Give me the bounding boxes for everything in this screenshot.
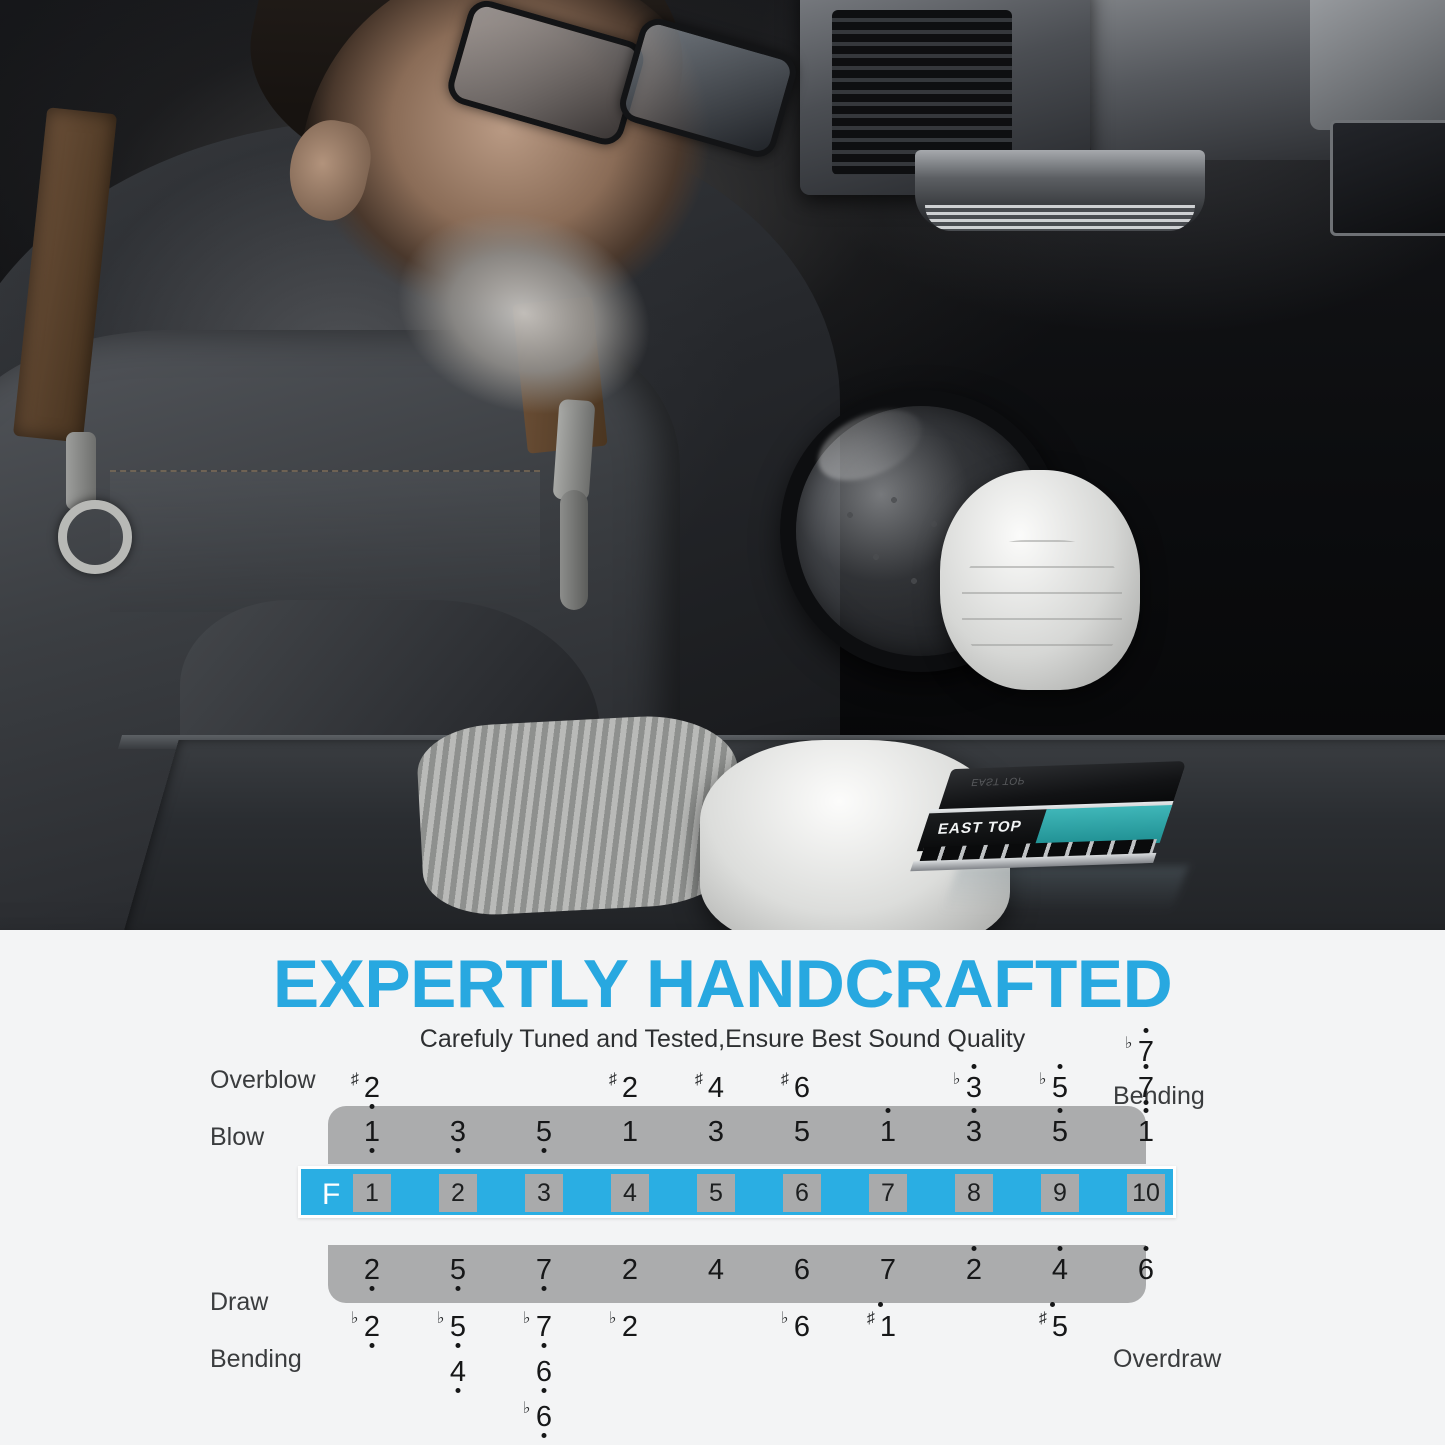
note-cell: 5♭ <box>427 1313 489 1342</box>
octave-dot-above <box>885 1108 890 1113</box>
note-glyph: 5 <box>450 1256 466 1285</box>
note-cell: 2 <box>943 1256 1005 1285</box>
note-glyph: 7 <box>1138 1074 1154 1103</box>
note-cell: 1 <box>1115 1118 1177 1147</box>
accidental-icon: ♯ <box>609 1072 617 1088</box>
octave-dot-above-second <box>1143 1100 1148 1105</box>
accidental-icon: ♭ <box>351 1311 359 1327</box>
subheadline: Carefuly Tuned and Tested,Ensure Best So… <box>0 1025 1445 1054</box>
accidental-icon: ♭ <box>781 1311 789 1327</box>
note-cell: 6 <box>513 1358 575 1387</box>
note-glyph: 3 <box>450 1118 466 1147</box>
note-cell: 3 <box>943 1118 1005 1147</box>
accidental-icon: ♯ <box>695 1072 703 1088</box>
octave-dot-above <box>1057 1246 1062 1251</box>
note-cell: 4 <box>427 1358 489 1387</box>
hole-number-chip[interactable]: 4 <box>611 1174 649 1212</box>
note-glyph: 1 <box>364 1118 380 1147</box>
octave-dot-below <box>541 1148 546 1153</box>
apron-strap-clip-left <box>66 432 96 510</box>
note-glyph: 6♯ <box>794 1074 810 1103</box>
note-cell: 3♭ <box>943 1074 1005 1103</box>
harmonica-etched-brand: EAST TOP <box>970 774 1026 787</box>
accidental-icon: ♭ <box>953 1072 961 1088</box>
octave-dot-above <box>878 1302 883 1307</box>
note-glyph: 7 <box>536 1256 552 1285</box>
note-cell: 4♯ <box>685 1074 747 1103</box>
note-cell: 2♭ <box>599 1313 661 1342</box>
note-glyph: 2 <box>966 1256 982 1285</box>
note-glyph: 3 <box>708 1118 724 1147</box>
hole-number-chip[interactable]: 7 <box>869 1174 907 1212</box>
octave-dot-above <box>1143 1028 1148 1033</box>
octave-dot-below <box>455 1286 460 1291</box>
note-glyph: 1 <box>880 1118 896 1147</box>
page-root: EAST TOP EAST TOP EXPERTLY HANDCRAFTED C… <box>0 0 1445 1445</box>
note-cell: 1 <box>857 1118 919 1147</box>
note-cell: 1 <box>599 1118 661 1147</box>
note-glyph: 4 <box>450 1358 466 1387</box>
hero-photo: EAST TOP EAST TOP <box>0 0 1445 930</box>
note-glyph: 6♭ <box>794 1313 810 1342</box>
info-panel: EXPERTLY HANDCRAFTED Carefuly Tuned and … <box>0 930 1445 1445</box>
note-cell: 7 <box>857 1256 919 1285</box>
hole-number-chip[interactable]: 8 <box>955 1174 993 1212</box>
accidental-icon: ♯ <box>781 1072 789 1088</box>
note-cell: 7 <box>1115 1074 1177 1103</box>
octave-dot-above <box>1143 1246 1148 1251</box>
harmonica-product: EAST TOP EAST TOP <box>909 761 1195 875</box>
note-cell: 1 <box>341 1118 403 1147</box>
note-cell: 4 <box>1029 1256 1091 1285</box>
note-glyph: 6♭ <box>536 1403 552 1432</box>
note-glyph: 2 <box>364 1256 380 1285</box>
label-overdraw: Overdraw <box>1113 1345 1221 1374</box>
harmonica-reflection <box>942 866 1189 912</box>
note-cell: 7♭ <box>513 1313 575 1342</box>
note-glyph: 2 <box>622 1256 638 1285</box>
octave-dot-above <box>1057 1064 1062 1069</box>
apron-strap-clip-right-lower <box>560 490 588 610</box>
hole-number-chip[interactable]: 9 <box>1041 1174 1079 1212</box>
note-cell: 7 <box>513 1256 575 1285</box>
octave-dot-below <box>369 1286 374 1291</box>
octave-dot-below <box>541 1343 546 1348</box>
accidental-icon: ♯ <box>351 1072 359 1088</box>
accidental-icon: ♭ <box>523 1311 531 1327</box>
headline: EXPERTLY HANDCRAFTED <box>0 950 1445 1018</box>
hole-number-chip[interactable]: 3 <box>525 1174 563 1212</box>
note-cell: 3 <box>685 1118 747 1147</box>
note-cell: 2 <box>599 1256 661 1285</box>
note-cell: 5 <box>771 1118 833 1147</box>
note-cell: 4 <box>685 1256 747 1285</box>
accidental-icon: ♯ <box>867 1311 875 1327</box>
glove-cuff <box>415 712 745 918</box>
note-cell: 3 <box>427 1118 489 1147</box>
hole-number-chip[interactable]: 5 <box>697 1174 735 1212</box>
note-glyph: 2♭ <box>622 1313 638 1342</box>
octave-dot-below <box>455 1343 460 1348</box>
note-cell: 2♯ <box>599 1074 661 1103</box>
octave-dot-below <box>369 1148 374 1153</box>
note-cell: 2 <box>341 1256 403 1285</box>
note-glyph: 3♭ <box>966 1074 982 1103</box>
octave-dot-above <box>1057 1108 1062 1113</box>
hole-number-chip[interactable]: 1 <box>353 1174 391 1212</box>
harmonica-brand-label: EAST TOP <box>936 818 1024 838</box>
microscope-arm-upper-icon <box>1310 0 1445 130</box>
octave-dot-below <box>541 1388 546 1393</box>
octave-dot-below <box>541 1433 546 1438</box>
octave-dot-above <box>971 1246 976 1251</box>
note-glyph: 4 <box>708 1256 724 1285</box>
hole-number-chip[interactable]: 10 <box>1127 1174 1165 1212</box>
note-glyph: 7♭ <box>536 1313 552 1342</box>
note-cell: 7♭ <box>1115 1038 1177 1067</box>
note-glyph: 6 <box>536 1358 552 1387</box>
octave-dot-above <box>971 1108 976 1113</box>
note-glyph: 5 <box>1052 1118 1068 1147</box>
octave-dot-below <box>541 1286 546 1291</box>
microscope-lens-rings-icon <box>925 205 1195 231</box>
hole-number-chip[interactable]: 6 <box>783 1174 821 1212</box>
note-glyph: 7 <box>880 1256 896 1285</box>
note-glyph: 4♯ <box>708 1074 724 1103</box>
note-cell: 5 <box>427 1256 489 1285</box>
apron-ring-icon <box>58 500 132 574</box>
microscope-panel-icon <box>1330 120 1445 236</box>
note-glyph: 1♯ <box>880 1313 896 1342</box>
note-cell: 5♭ <box>1029 1074 1091 1103</box>
octave-dot-above <box>1143 1108 1148 1113</box>
note-glyph: 5 <box>536 1118 552 1147</box>
note-glyph: 3 <box>966 1118 982 1147</box>
accidental-icon: ♭ <box>1039 1072 1047 1088</box>
note-glyph: 1 <box>1138 1118 1154 1147</box>
label-bending-left: Bending <box>210 1345 302 1374</box>
note-cell: 6♯ <box>771 1074 833 1103</box>
note-cell: 5 <box>1029 1118 1091 1147</box>
hole-number-chip[interactable]: 2 <box>439 1174 477 1212</box>
accidental-icon: ♭ <box>609 1311 617 1327</box>
note-glyph: 1 <box>622 1118 638 1147</box>
note-glyph: 5♯ <box>1052 1313 1068 1342</box>
note-glyph: 5♭ <box>450 1313 466 1342</box>
note-cell: 6 <box>1115 1256 1177 1285</box>
note-cell: 6♭ <box>513 1403 575 1432</box>
note-cell: 5 <box>513 1118 575 1147</box>
note-cell: 2♭ <box>341 1313 403 1342</box>
octave-dot-below <box>455 1388 460 1393</box>
note-cell: 2♯ <box>341 1074 403 1103</box>
key-letter: F <box>322 1178 340 1212</box>
accidental-icon: ♭ <box>1125 1036 1133 1052</box>
note-glyph: 6 <box>1138 1256 1154 1285</box>
octave-dot-above <box>971 1064 976 1069</box>
accidental-icon: ♭ <box>523 1401 531 1417</box>
note-glyph: 5 <box>794 1118 810 1147</box>
apron-pocket <box>110 470 540 612</box>
octave-dot-below <box>369 1104 374 1109</box>
note-glyph: 5♭ <box>1052 1074 1068 1103</box>
label-draw: Draw <box>210 1288 268 1317</box>
gloved-hand-right-fingers <box>962 540 1122 670</box>
note-glyph: 2♯ <box>364 1074 380 1103</box>
note-glyph: 6 <box>794 1256 810 1285</box>
note-cell: 1♯ <box>857 1313 919 1342</box>
note-glyph: 7♭ <box>1138 1038 1154 1067</box>
label-blow: Blow <box>210 1123 264 1152</box>
octave-dot-below <box>369 1343 374 1348</box>
note-glyph: 2♭ <box>364 1313 380 1342</box>
note-cell: 6 <box>771 1256 833 1285</box>
accidental-icon: ♯ <box>1039 1311 1047 1327</box>
note-glyph: 4 <box>1052 1256 1068 1285</box>
note-cell: 5♯ <box>1029 1313 1091 1342</box>
octave-dot-above <box>1050 1302 1055 1307</box>
accidental-icon: ♭ <box>437 1311 445 1327</box>
label-overblow: Overblow <box>210 1066 316 1095</box>
note-glyph: 2♯ <box>622 1074 638 1103</box>
harmonica-note-chart: Overblow Blow Draw Bending Bending Overd… <box>0 1060 1445 1440</box>
note-cell: 6♭ <box>771 1313 833 1342</box>
octave-dot-below <box>455 1148 460 1153</box>
